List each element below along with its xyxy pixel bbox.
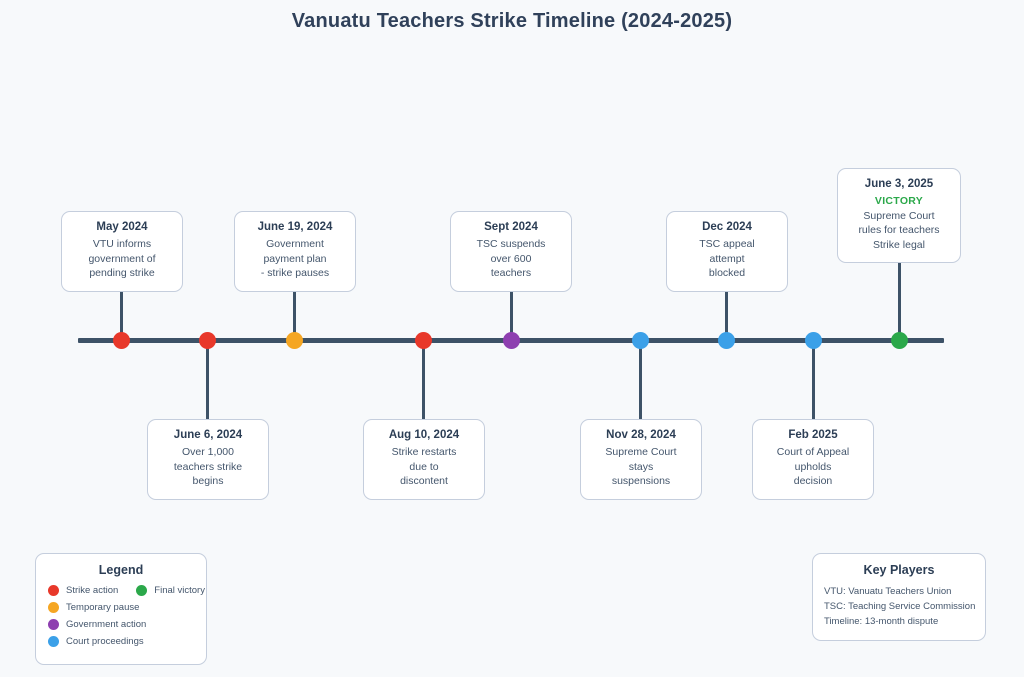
legend-item-court-proceedings[interactable]: Court proceedings — [48, 636, 144, 647]
event-dot-feb-2025[interactable] — [805, 332, 822, 349]
legend-color-dot-icon — [136, 585, 147, 596]
event-description-line: TSC suspends — [461, 237, 561, 252]
event-date: June 3, 2025 — [848, 178, 950, 190]
event-date: Aug 10, 2024 — [374, 429, 474, 441]
event-card-may-2024[interactable]: May 2024VTU informsgovernment ofpending … — [61, 211, 183, 292]
event-date: Sept 2024 — [461, 221, 561, 233]
legend-row: Temporary pause — [48, 602, 194, 613]
event-description-line: Supreme Court — [848, 209, 950, 224]
event-description-line: rules for teachers — [848, 223, 950, 238]
event-card-june-19-2024[interactable]: June 19, 2024Governmentpayment plan- str… — [234, 211, 356, 292]
event-description-line: Government — [245, 237, 345, 252]
event-card-feb-2025[interactable]: Feb 2025Court of Appealupholdsdecision — [752, 419, 874, 500]
legend-label: Court proceedings — [66, 636, 144, 647]
event-description-line: over 600 — [461, 252, 561, 267]
legend-rows: Strike actionFinal victoryTemporary paus… — [48, 585, 194, 647]
legend-item-final-victory[interactable]: Final victory — [136, 585, 205, 596]
event-date: Feb 2025 — [763, 429, 863, 441]
event-description-line: stays — [591, 460, 691, 475]
event-card-aug-10-2024[interactable]: Aug 10, 2024Strike restartsdue todiscont… — [363, 419, 485, 500]
event-description-line: Strike legal — [848, 238, 950, 253]
event-connector-feb-2025 — [812, 340, 815, 419]
legend-row: Government action — [48, 619, 194, 630]
event-description-line: attempt — [677, 252, 777, 267]
event-date: Dec 2024 — [677, 221, 777, 233]
event-description-line: Supreme Court — [591, 445, 691, 460]
event-description-line: begins — [158, 474, 258, 489]
event-description-line: Court of Appeal — [763, 445, 863, 460]
legend-item-strike-action[interactable]: Strike action — [48, 585, 118, 596]
legend-color-dot-icon — [48, 602, 59, 613]
event-dot-dec-2024[interactable] — [718, 332, 735, 349]
legend-label: Final victory — [154, 585, 205, 596]
event-dot-june-3-2025[interactable] — [891, 332, 908, 349]
event-description-line: suspensions — [591, 474, 691, 489]
event-description-line: TSC appeal — [677, 237, 777, 252]
event-victory-tag: VICTORY — [848, 194, 950, 209]
key-players-line: VTU: Vanuatu Teachers Union — [824, 584, 974, 599]
event-description-line: payment plan — [245, 252, 345, 267]
event-card-nov-28-2024[interactable]: Nov 28, 2024Supreme Courtstayssuspension… — [580, 419, 702, 500]
key-players-title: Key Players — [824, 563, 974, 577]
legend-label: Government action — [66, 619, 146, 630]
legend-color-dot-icon — [48, 636, 59, 647]
event-description-line: pending strike — [72, 266, 172, 281]
event-card-dec-2024[interactable]: Dec 2024TSC appealattemptblocked — [666, 211, 788, 292]
legend-title: Legend — [48, 563, 194, 577]
event-date: May 2024 — [72, 221, 172, 233]
event-description-line: discontent — [374, 474, 474, 489]
event-card-june-6-2024[interactable]: June 6, 2024Over 1,000teachers strikebeg… — [147, 419, 269, 500]
page-title: Vanuatu Teachers Strike Timeline (2024-2… — [0, 10, 1024, 33]
legend-row: Court proceedings — [48, 636, 194, 647]
event-description-line: decision — [763, 474, 863, 489]
event-description-line: upholds — [763, 460, 863, 475]
legend-label: Strike action — [66, 585, 118, 596]
event-card-june-3-2025[interactable]: June 3, 2025VICTORYSupreme Courtrules fo… — [837, 168, 961, 263]
event-description-line: Over 1,000 — [158, 445, 258, 460]
event-description-line: blocked — [677, 266, 777, 281]
event-dot-june-19-2024[interactable] — [286, 332, 303, 349]
event-connector-june-6-2024 — [206, 340, 209, 419]
event-connector-aug-10-2024 — [422, 340, 425, 419]
event-date: June 19, 2024 — [245, 221, 345, 233]
event-dot-sept-2024[interactable] — [503, 332, 520, 349]
event-description-line: due to — [374, 460, 474, 475]
event-description-line: VTU informs — [72, 237, 172, 252]
key-players-line: Timeline: 13-month dispute — [824, 614, 974, 629]
event-dot-nov-28-2024[interactable] — [632, 332, 649, 349]
key-players-box: Key Players VTU: Vanuatu Teachers UnionT… — [812, 553, 986, 641]
event-connector-nov-28-2024 — [639, 340, 642, 419]
event-description-line: - strike pauses — [245, 266, 345, 281]
event-dot-june-6-2024[interactable] — [199, 332, 216, 349]
event-dot-aug-10-2024[interactable] — [415, 332, 432, 349]
event-dot-may-2024[interactable] — [113, 332, 130, 349]
legend-item-temporary-pause[interactable]: Temporary pause — [48, 602, 139, 613]
key-players-line: TSC: Teaching Service Commission — [824, 599, 974, 614]
legend-label: Temporary pause — [66, 602, 139, 613]
event-description-line: teachers — [461, 266, 561, 281]
key-players-lines: VTU: Vanuatu Teachers UnionTSC: Teaching… — [824, 584, 974, 629]
event-date: June 6, 2024 — [158, 429, 258, 441]
event-description-line: Strike restarts — [374, 445, 474, 460]
event-date: Nov 28, 2024 — [591, 429, 691, 441]
legend-color-dot-icon — [48, 585, 59, 596]
legend-item-government-action[interactable]: Government action — [48, 619, 146, 630]
legend-color-dot-icon — [48, 619, 59, 630]
event-description-line: government of — [72, 252, 172, 267]
event-description-line: teachers strike — [158, 460, 258, 475]
event-card-sept-2024[interactable]: Sept 2024TSC suspendsover 600teachers — [450, 211, 572, 292]
legend-row: Strike actionFinal victory — [48, 585, 194, 596]
legend-box: Legend Strike actionFinal victoryTempora… — [35, 553, 207, 665]
